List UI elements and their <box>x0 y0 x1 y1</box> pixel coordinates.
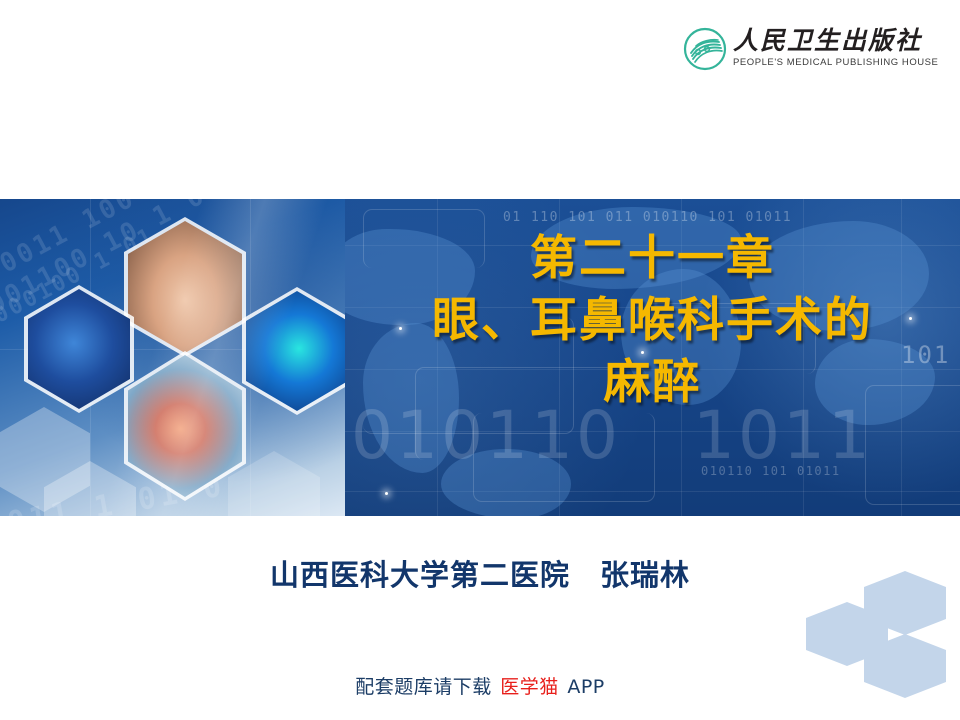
footer-brand-name: 医学猫 <box>500 676 559 698</box>
map-spark <box>399 327 402 330</box>
decorative-hexagon-group <box>806 571 952 687</box>
map-spark <box>385 492 388 495</box>
map-spark <box>641 351 644 354</box>
publisher-logo: 人民卫生出版社 PEOPLE'S MEDICAL PUBLISHING HOUS… <box>683 26 918 80</box>
footer-prefix: 配套题库请下载 <box>355 676 492 698</box>
circuit-trace <box>865 385 960 505</box>
banner-binary-bottom: 010110 101 01011 <box>701 464 841 478</box>
footer-promo: 配套题库请下载 医学猫 APP <box>0 672 960 699</box>
publisher-name-en: PEOPLE'S MEDICAL PUBLISHING HOUSE <box>733 57 938 69</box>
map-spark <box>909 317 912 320</box>
pmph-seal-icon <box>683 27 727 71</box>
circuit-trace <box>363 209 485 268</box>
title-banner: 0011 100 10 001100 10 1 0 1000100 1 01 0… <box>0 199 960 516</box>
circuit-trace <box>645 303 816 374</box>
banner-binary-top: 01 110 101 011 010110 101 01011 <box>503 210 792 225</box>
banner-binary-large: 010110 <box>351 397 621 474</box>
banner-binary-right: 101 0 <box>901 341 960 369</box>
medical-collage-image: 0011 100 10 001100 10 1 0 1000100 1 01 0… <box>0 199 345 516</box>
banner-binary-large-right: 1011 <box>693 397 873 474</box>
data-world-background: 01 110 101 011 010110 101 01011 101 0 01… <box>345 199 960 516</box>
footer-suffix: APP <box>567 676 604 698</box>
publisher-name-cn: 人民卫生出版社 <box>733 26 938 56</box>
